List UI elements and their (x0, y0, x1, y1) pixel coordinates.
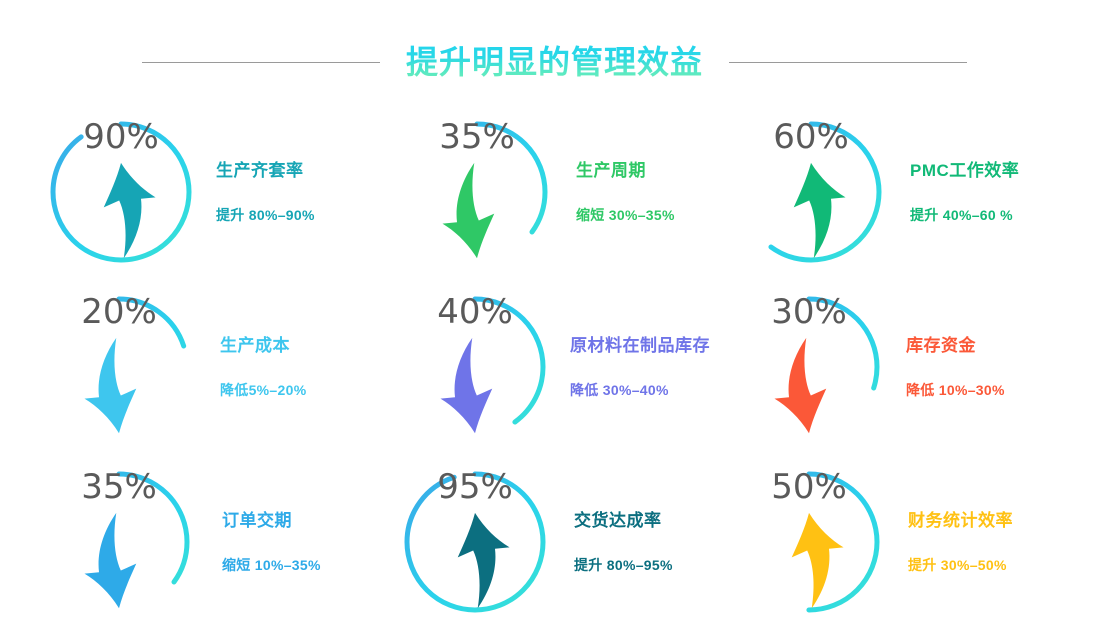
metric-subtitle: 提升 30%–50% (908, 555, 1007, 575)
progress-ring: 35% (46, 469, 192, 615)
metric-card[interactable]: 95%交货达成率提升 80%–95% (382, 454, 722, 629)
metric-subtitle: 提升 40%–60 % (910, 205, 1013, 225)
metric-title: 原材料在制品库存 (570, 334, 710, 358)
metric-labels: 生产成本降低5%–20% (220, 334, 306, 400)
page-header: 提升明显的管理效益 (0, 38, 1109, 86)
metric-card[interactable]: 20%生产成本降低5%–20% (42, 279, 382, 454)
progress-ring: 30% (736, 294, 882, 440)
metric-card[interactable]: 35%生产周期缩短 30%–35% (382, 104, 722, 279)
metric-subtitle: 提升 80%–90% (216, 205, 315, 225)
progress-ring-svg (736, 294, 882, 440)
metric-grid: 90%生产齐套率提升 80%–90%35%生产周期缩短 30%–35%60%PM… (0, 104, 1109, 623)
progress-ring-svg (402, 469, 548, 615)
metric-subtitle: 降低 10%–30% (906, 380, 1005, 400)
header-rule-right (729, 62, 967, 63)
metric-title: 生产成本 (220, 334, 290, 358)
metric-labels: 生产齐套率提升 80%–90% (216, 159, 315, 225)
metric-subtitle: 降低 30%–40% (570, 380, 669, 400)
metric-title: 交货达成率 (574, 509, 662, 533)
metric-title: 库存资金 (906, 334, 976, 358)
metric-card[interactable]: 60%PMC工作效率提升 40%–60 % (722, 104, 1067, 279)
progress-ring-svg (402, 294, 548, 440)
metric-card[interactable]: 90%生产齐套率提升 80%–90% (42, 104, 382, 279)
progress-ring-svg (46, 469, 192, 615)
metric-title: 生产齐套率 (216, 159, 304, 183)
progress-ring: 35% (404, 119, 550, 265)
metric-title: 生产周期 (576, 159, 646, 183)
metric-subtitle: 降低5%–20% (220, 380, 306, 400)
metric-card[interactable]: 35%订单交期缩短 10%–35% (42, 454, 382, 629)
progress-ring: 90% (48, 119, 194, 265)
metric-title: 财务统计效率 (908, 509, 1013, 533)
metric-title: PMC工作效率 (910, 159, 1019, 183)
metric-labels: 交货达成率提升 80%–95% (574, 509, 673, 575)
metric-labels: 库存资金降低 10%–30% (906, 334, 1005, 400)
progress-ring: 40% (402, 294, 548, 440)
progress-ring-svg (738, 119, 884, 265)
progress-ring-svg (46, 294, 192, 440)
metric-card[interactable]: 40%原材料在制品库存降低 30%–40% (382, 279, 722, 454)
progress-ring: 95% (402, 469, 548, 615)
metric-labels: 生产周期缩短 30%–35% (576, 159, 675, 225)
metric-subtitle: 缩短 10%–35% (222, 555, 321, 575)
metric-title: 订单交期 (222, 509, 292, 533)
progress-ring: 60% (738, 119, 884, 265)
metric-subtitle: 提升 80%–95% (574, 555, 673, 575)
header-rule-left (142, 62, 380, 63)
metric-card[interactable]: 30%库存资金降低 10%–30% (722, 279, 1067, 454)
progress-ring-svg (736, 469, 882, 615)
progress-ring: 50% (736, 469, 882, 615)
metric-labels: 财务统计效率提升 30%–50% (908, 509, 1013, 575)
metric-labels: PMC工作效率提升 40%–60 % (910, 159, 1019, 225)
page-title: 提升明显的管理效益 (406, 40, 703, 84)
metric-card[interactable]: 50%财务统计效率提升 30%–50% (722, 454, 1067, 629)
progress-ring-svg (48, 119, 194, 265)
progress-ring-svg (404, 119, 550, 265)
metric-labels: 原材料在制品库存降低 30%–40% (570, 334, 710, 400)
progress-ring: 20% (46, 294, 192, 440)
metric-labels: 订单交期缩短 10%–35% (222, 509, 321, 575)
metric-subtitle: 缩短 30%–35% (576, 205, 675, 225)
